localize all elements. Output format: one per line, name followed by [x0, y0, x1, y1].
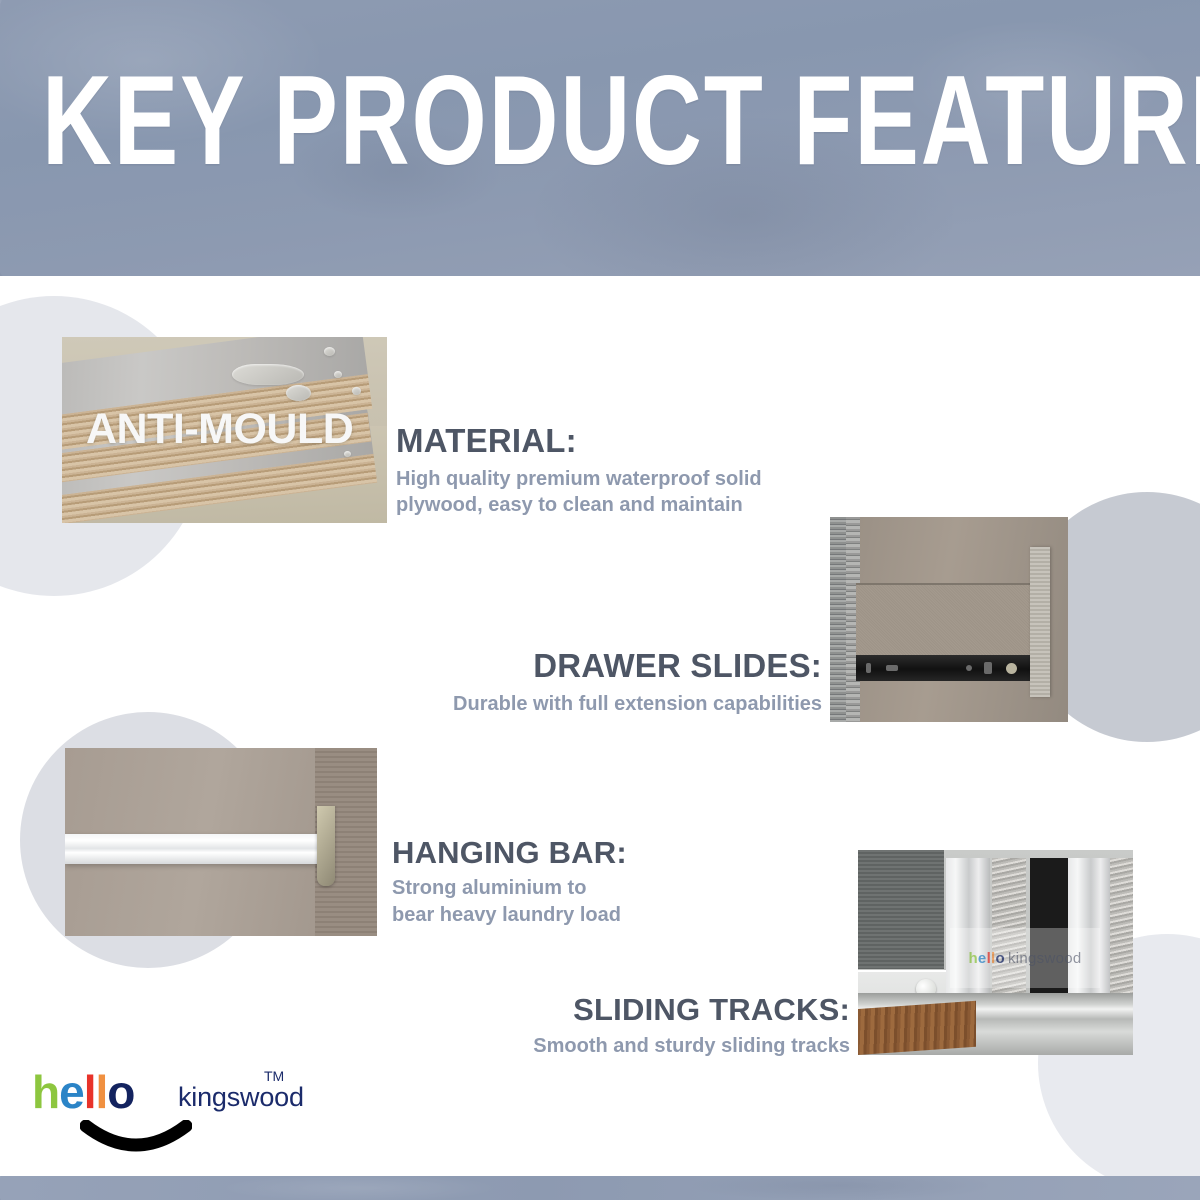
drawer-slides-photo [830, 517, 1068, 722]
feature-title-drawer-slides: DRAWER SLIDES: [352, 645, 822, 687]
feature-text-sliding-tracks: SLIDING TRACKS: Smooth and sturdy slidin… [430, 990, 850, 1059]
water-droplet-medium [286, 385, 311, 401]
drawer-slide-rail [856, 655, 1042, 681]
sliding-door-back-wall [858, 850, 944, 969]
feature-title-sliding-tracks: SLIDING TRACKS: [430, 990, 850, 1030]
watermark-letter-o: o [996, 950, 1005, 967]
water-droplet-large [232, 364, 304, 385]
logo-letter-h: h [32, 1066, 59, 1118]
logo-letter-e: e [59, 1066, 84, 1118]
watermark-letter-e: e [978, 950, 987, 967]
aluminium-hanging-bar [65, 834, 327, 864]
feature-desc-material: High quality premium waterproof solid pl… [396, 466, 826, 518]
logo-letter-o: o [107, 1066, 134, 1118]
feature-desc-hanging-bar-line1: Strong aluminium to [392, 875, 792, 902]
drawer-frame-outer [830, 517, 846, 722]
logo-hello-wordmark: hello [32, 1068, 134, 1116]
footer-band [0, 1176, 1200, 1200]
feature-desc-material-line1: High quality premium waterproof solid [396, 466, 826, 492]
feature-desc-material-line2: plywood, easy to clean and maintain [396, 492, 826, 518]
watermark-brand-name: kingswood [1008, 950, 1082, 967]
brand-logo[interactable]: hello kingswood TM [32, 1068, 312, 1164]
hanging-bar-photo [65, 748, 377, 936]
sliding-tracks-photo: hellokingswood [858, 850, 1133, 1055]
logo-wordmark-row: hello kingswood TM [32, 1068, 312, 1120]
logo-brand-name: kingswood [178, 1082, 304, 1112]
smile-icon [80, 1120, 192, 1160]
hanging-bar-bracket [317, 806, 335, 886]
feature-title-material: MATERIAL: [396, 420, 826, 462]
feature-text-hanging-bar: HANGING BAR: Strong aluminium to bear he… [392, 833, 792, 929]
feature-desc-sliding-tracks: Smooth and sturdy sliding tracks [430, 1033, 850, 1059]
watermark-letter-h: h [968, 950, 977, 967]
anti-mould-overlay-label: ANTI-MOULD [86, 404, 353, 454]
brand-watermark: hellokingswood [950, 928, 1100, 988]
logo-letter-l2: l [95, 1066, 107, 1118]
page-title: KEY PRODUCT FEATURES [42, 58, 1158, 185]
water-droplet-small-2 [334, 371, 342, 378]
feature-text-material: MATERIAL: High quality premium waterproo… [396, 420, 826, 518]
feature-desc-drawer-slides: Durable with full extension capabilities [352, 691, 822, 717]
water-droplet-small-3 [352, 387, 361, 395]
drawer-front-panel [1030, 547, 1050, 697]
feature-desc-hanging-bar: Strong aluminium to bear heavy laundry l… [392, 875, 792, 929]
feature-text-drawer-slides: DRAWER SLIDES: Durable with full extensi… [352, 645, 822, 717]
feature-title-hanging-bar: HANGING BAR: [392, 833, 792, 873]
feature-desc-hanging-bar-line2: bear heavy laundry load [392, 902, 792, 929]
sliding-track-wood-trim [858, 1001, 976, 1055]
trademark-symbol: TM [264, 1068, 284, 1084]
logo-letter-l1: l [84, 1066, 96, 1118]
water-droplet-small-1 [324, 347, 335, 356]
drawer-box [856, 583, 1042, 655]
poster-canvas: KEY PRODUCT FEATURES ANTI-MOULD MATERIAL… [0, 0, 1200, 1200]
